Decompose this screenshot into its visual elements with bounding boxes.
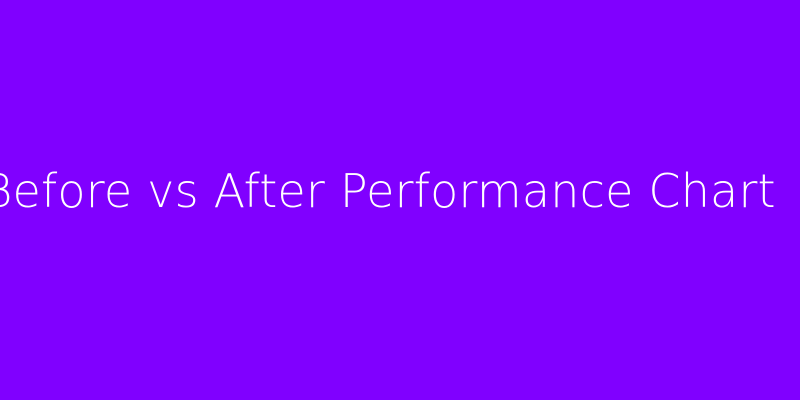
placeholder-title: Before vs After Performance Chart: [0, 168, 776, 214]
placeholder-image-canvas: Before vs After Performance Chart: [0, 0, 800, 400]
